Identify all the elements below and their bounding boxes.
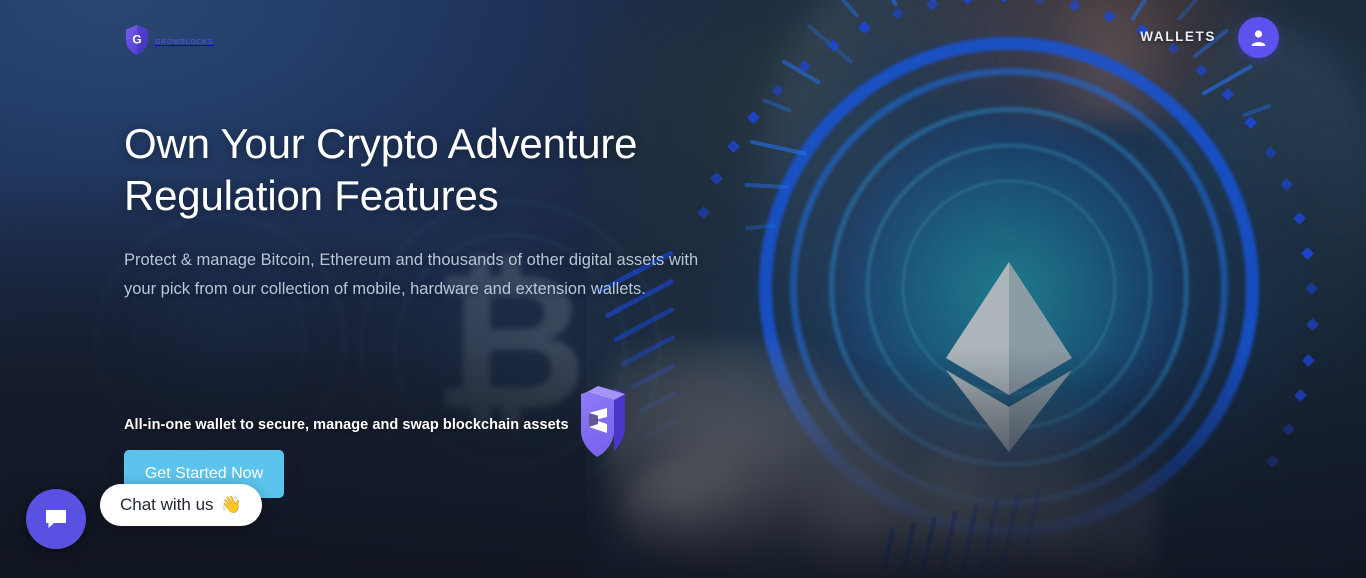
hero-section: Own Your Crypto Adventure Regulation Fea… bbox=[124, 118, 764, 304]
site-header: G GROWBLOCKS WALLETS bbox=[0, 0, 1366, 76]
person-glyph bbox=[1249, 28, 1268, 47]
arc-dot bbox=[1222, 89, 1235, 102]
waving-hand-icon: 👋 bbox=[221, 495, 242, 515]
primary-nav: WALLETS bbox=[1140, 29, 1216, 44]
arc-dot bbox=[1301, 247, 1314, 260]
hero-heading-line-2: Regulation Features bbox=[124, 172, 498, 219]
chat-prompt-text: Chat with us bbox=[120, 495, 214, 515]
shield-g-logo-icon: G bbox=[124, 24, 150, 61]
arc-dot bbox=[1280, 178, 1293, 191]
swap-shield-icon bbox=[573, 383, 633, 466]
brand-name: GROWBLOCKS bbox=[155, 39, 213, 46]
hero-heading-line-1: Own Your Crypto Adventure bbox=[124, 120, 637, 167]
user-avatar-icon[interactable] bbox=[1238, 17, 1279, 58]
landing-page-hero: ₿ G GROWBLOCKS bbox=[0, 0, 1366, 578]
chat-bubble-icon bbox=[43, 506, 69, 532]
arc-dot bbox=[1306, 318, 1319, 331]
chat-prompt-bubble[interactable]: Chat with us 👋 bbox=[100, 484, 262, 526]
nav-link-wallets[interactable]: WALLETS bbox=[1140, 29, 1216, 44]
arc-dot bbox=[1306, 283, 1319, 296]
arc-dot bbox=[1245, 116, 1258, 129]
hero-tagline: All-in-one wallet to secure, manage and … bbox=[124, 417, 569, 433]
chat-launcher-button[interactable] bbox=[26, 489, 86, 549]
hero-heading: Own Your Crypto Adventure Regulation Fea… bbox=[124, 118, 764, 222]
svg-text:G: G bbox=[132, 33, 141, 47]
brand-logo[interactable]: G GROWBLOCKS bbox=[124, 24, 213, 61]
arc-dot bbox=[1293, 212, 1306, 225]
arc-dot bbox=[771, 84, 784, 97]
hero-description: Protect & manage Bitcoin, Ethereum and t… bbox=[124, 246, 724, 304]
arc-dot bbox=[1264, 146, 1277, 159]
